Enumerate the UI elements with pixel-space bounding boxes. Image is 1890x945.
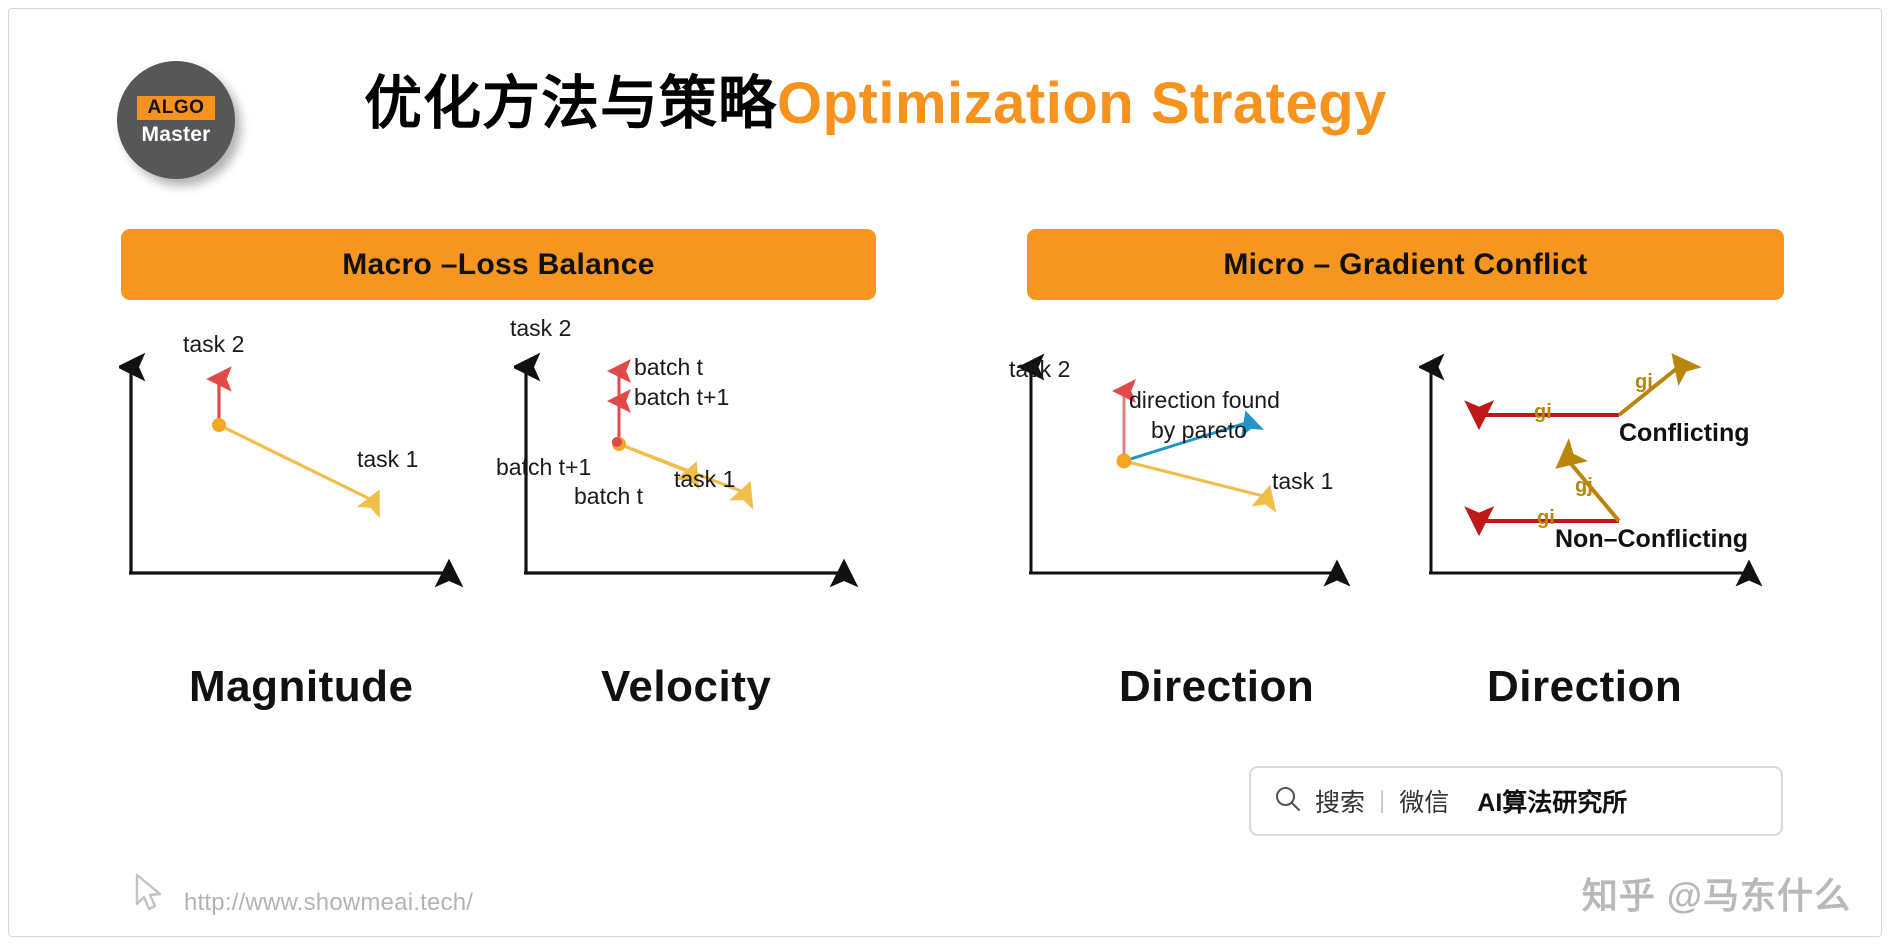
- search-placeholder-text: 搜索: [1315, 783, 1365, 819]
- search-divider: |: [1379, 787, 1385, 815]
- pareto-task1-label: task 1: [1272, 468, 1333, 495]
- page-title-english: Optimization Strategy: [777, 71, 1387, 136]
- panel-magnitude: task 2 task 1: [119, 349, 539, 649]
- pareto-direction-label-line1: direction found: [1129, 387, 1280, 414]
- pareto-task2-label: task 2: [1009, 356, 1070, 383]
- search-channel-text: 微信: [1399, 783, 1449, 819]
- pareto-direction-label-line2: by pareto: [1151, 417, 1247, 444]
- logo-master-label: Master: [142, 124, 211, 145]
- logo-algo-label: ALGO: [137, 96, 216, 120]
- velocity-batch-t1-bottom-label: batch t+1: [496, 454, 591, 481]
- caption-direction-conflict: Direction: [1487, 662, 1682, 712]
- direction-conflict-chart-svg: [1419, 349, 1849, 649]
- zhihu-watermark: 知乎 @马东什么: [1582, 867, 1851, 919]
- conflicting-label: Conflicting: [1619, 419, 1750, 448]
- velocity-batch-t-top-label: batch t: [634, 354, 703, 381]
- panel-direction-pareto: task 2 task 1 direction found by pareto: [1019, 349, 1439, 649]
- magnitude-task1-label: task 1: [357, 446, 418, 473]
- caption-magnitude: Magnitude: [189, 662, 413, 712]
- wechat-search-pill[interactable]: 搜索 | 微信 AI算法研究所: [1249, 766, 1783, 836]
- velocity-task2-label: task 2: [510, 315, 571, 342]
- page-title: 优化方法与策略Optimization Strategy: [364, 71, 1387, 138]
- page-title-chinese: 优化方法与策略: [364, 71, 777, 136]
- task1-vector: [1124, 461, 1267, 497]
- magnitude-chart-svg: [119, 349, 539, 649]
- magnitude-task2-label: task 2: [183, 331, 244, 358]
- caption-velocity: Velocity: [601, 662, 771, 712]
- banner-macro-loss-balance: Macro –Loss Balance: [121, 229, 876, 300]
- gi-label-non-conflicting: gi: [1537, 507, 1555, 530]
- slide-canvas: ALGO Master 优化方法与策略Optimization Strategy…: [8, 8, 1882, 937]
- origin-dot-red: [612, 437, 622, 447]
- caption-direction-pareto: Direction: [1119, 662, 1314, 712]
- task1-vector: [219, 425, 374, 501]
- algo-master-logo: ALGO Master: [117, 61, 235, 179]
- banner-micro-gradient-conflict: Micro – Gradient Conflict: [1027, 229, 1784, 300]
- search-brand-text: AI算法研究所: [1477, 783, 1627, 819]
- panel-velocity: task 2 batch t batch t+1 batch t+1 batch…: [514, 349, 934, 649]
- cursor-icon: [131, 871, 169, 920]
- gi-label-conflicting: gi: [1534, 401, 1552, 424]
- search-icon: [1273, 784, 1303, 819]
- gj-label-conflicting: gj: [1635, 371, 1653, 394]
- velocity-task1-label: task 1: [674, 466, 735, 493]
- velocity-batch-t1-top-label: batch t+1: [634, 384, 729, 411]
- gj-label-non-conflicting: gj: [1575, 475, 1593, 498]
- panel-direction-conflict: gi gj Conflicting gi gj Non–Conflicting: [1419, 349, 1849, 649]
- origin-dot: [1117, 454, 1132, 469]
- footer-url[interactable]: http://www.showmeai.tech/: [184, 889, 473, 917]
- origin-dot: [212, 418, 226, 432]
- velocity-batch-t-bottom-label: batch t: [574, 483, 643, 510]
- non-conflicting-label: Non–Conflicting: [1555, 525, 1748, 554]
